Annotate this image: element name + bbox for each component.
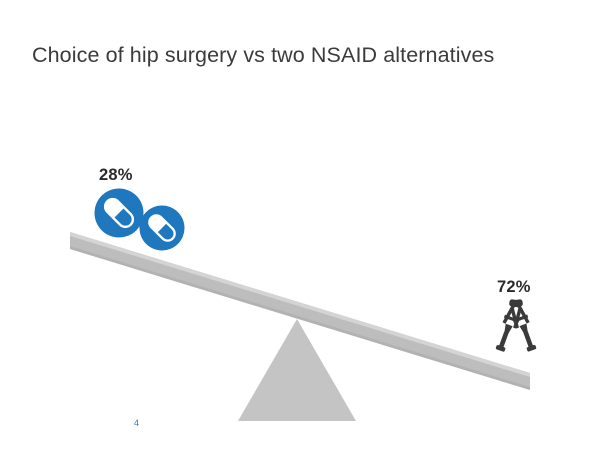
pill-capsule-icon bbox=[95, 189, 144, 238]
slide-canvas: Choice of hip surgery vs two NSAID alter… bbox=[0, 0, 600, 450]
surgery-percentage-label: 72% bbox=[497, 278, 531, 297]
seesaw-balance-figure bbox=[0, 0, 600, 450]
crutches-icon bbox=[493, 295, 539, 353]
page-number: 4 bbox=[134, 418, 139, 428]
nsaid-percentage-label: 28% bbox=[99, 166, 133, 185]
pill-capsule-icon bbox=[140, 206, 185, 251]
triangle-fulcrum bbox=[238, 319, 356, 421]
